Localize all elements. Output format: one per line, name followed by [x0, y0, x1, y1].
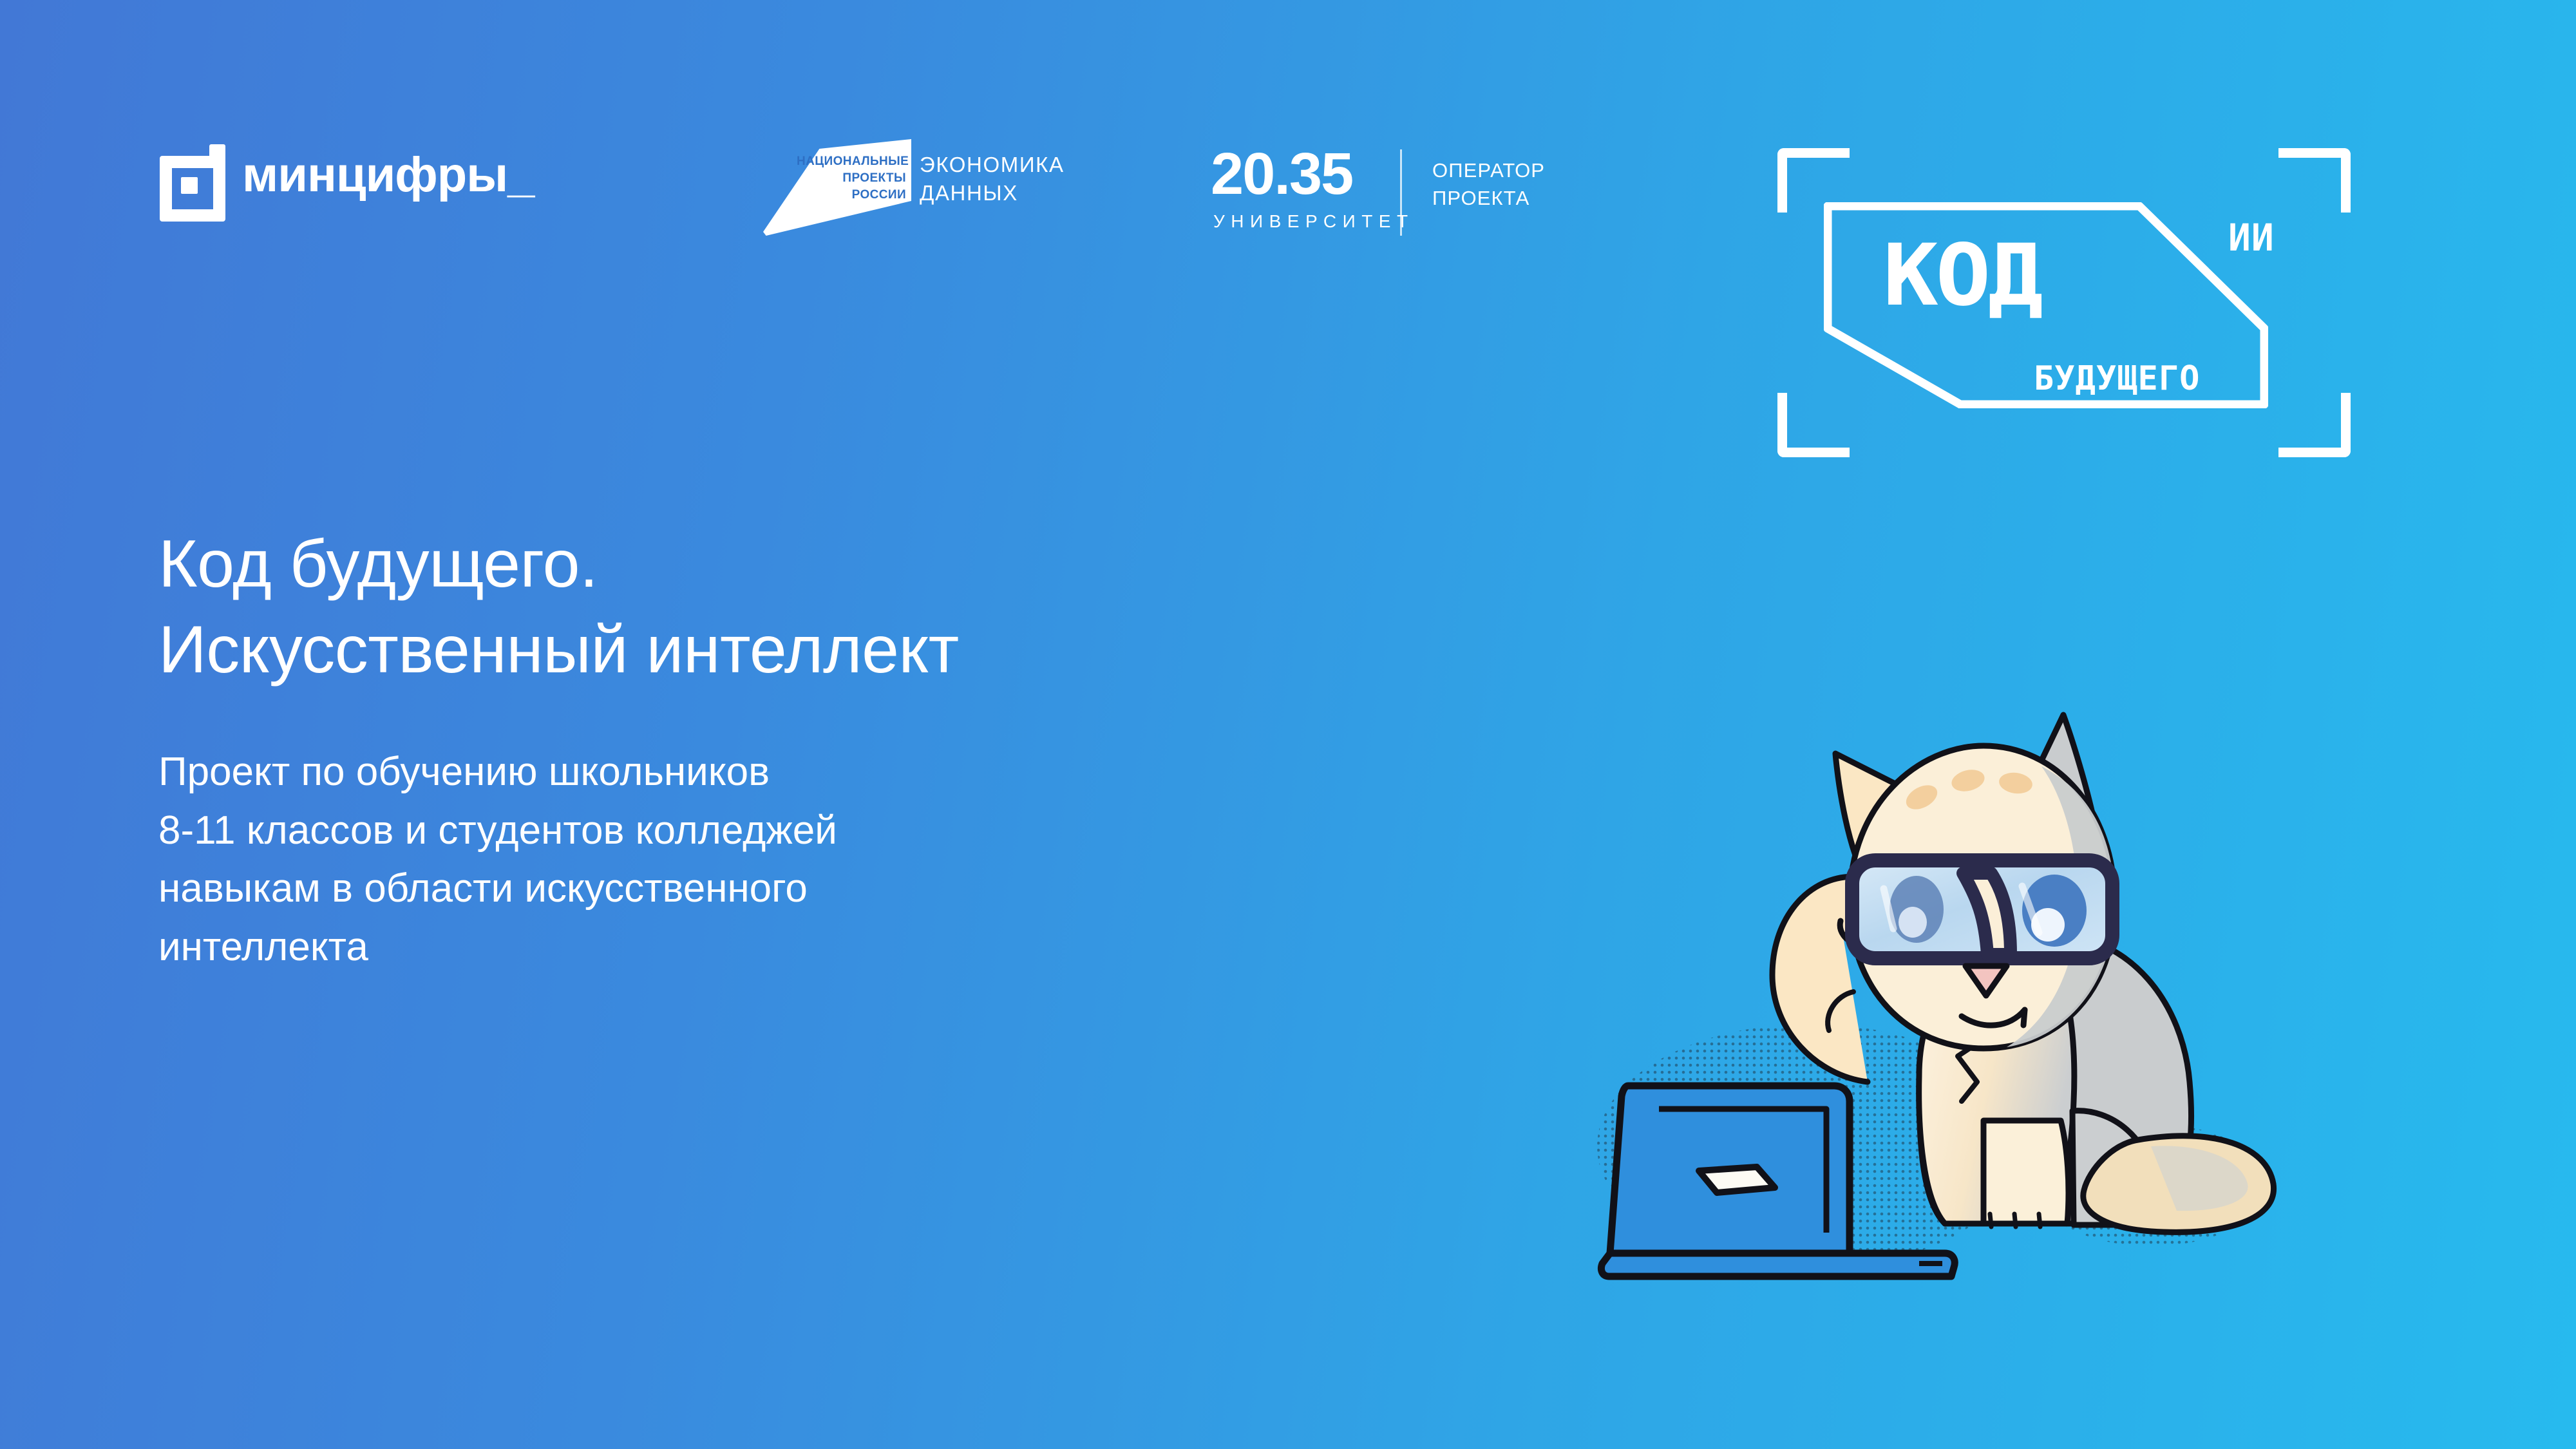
hero-copy-block: Код будущего. Искусственный интеллект Пр…	[158, 522, 1446, 976]
flag-line-3: РОССИИ	[797, 187, 906, 204]
flag-line-2: ПРОЕКТЫ	[797, 170, 906, 187]
poster-canvas: минцифры_ НАЦИОНАЛЬНЫЕ ПРОЕКТЫ РОССИИ ЭК…	[0, 0, 2576, 1449]
role-line-1: ОПЕРАТОР	[1432, 157, 1545, 185]
icon-corner-square	[209, 144, 225, 160]
budushchego-word: БУДУЩЕГО	[2034, 362, 2200, 395]
role-line-2: ПРОЕКТА	[1432, 185, 1545, 213]
econ-line-2: ДАННЫХ	[920, 179, 1065, 207]
project-operator-label: ОПЕРАТОР ПРОЕКТА	[1432, 157, 1545, 213]
body-line-2: 8-11 классов и студентов колледжей	[158, 802, 1446, 860]
econ-line-1: ЭКОНОМИКА	[920, 151, 1065, 179]
headline-line-1: Код будущего.	[158, 522, 1446, 607]
page-title: Код будущего. Искусственный интеллект	[158, 522, 1446, 693]
university-2035-logo: 20.35 УНИВЕРСИТЕТ ОПЕРАТОР ПРОЕКТА	[1211, 144, 1623, 247]
national-projects-logo: НАЦИОНАЛЬНЫЕ ПРОЕКТЫ РОССИИ ЭКОНОМИКА ДА…	[763, 139, 1098, 236]
body-line-1: Проект по обучению школьников	[158, 743, 1446, 802]
university-number: 20.35	[1211, 144, 1352, 204]
partner-logo-bar: минцифры_ НАЦИОНАЛЬНЫЕ ПРОЕКТЫ РОССИИ ЭК…	[0, 0, 2576, 335]
corner-bracket-bottom-right-icon	[2278, 393, 2351, 457]
kod-word: КОД	[1883, 233, 2041, 318]
mincifry-logo: минцифры_	[160, 137, 623, 227]
university-subtitle: УНИВЕРСИТЕТ	[1213, 213, 1414, 231]
icon-center-square	[181, 177, 198, 194]
goggles-icon	[1852, 860, 2112, 958]
mincifry-wordmark: минцифры_	[242, 151, 534, 200]
headline-line-2: Искусственный интеллект	[158, 607, 1446, 693]
cat-tail	[2083, 1136, 2274, 1233]
hero-description: Проект по обучению школьников 8-11 класс…	[158, 743, 1446, 976]
cat-illustration	[1533, 631, 2357, 1327]
national-projects-flag-icon: НАЦИОНАЛЬНЫЕ ПРОЕКТЫ РОССИИ	[763, 139, 911, 236]
body-line-4: интеллекта	[158, 918, 1446, 977]
flag-line-1: НАЦИОНАЛЬНЫЕ	[797, 153, 906, 170]
flag-text: НАЦИОНАЛЬНЫЕ ПРОЕКТЫ РОССИИ	[797, 153, 906, 204]
mincifry-square-icon	[160, 156, 219, 215]
kod-budushchego-logo: КОД БУДУЩЕГО ИИ	[1777, 148, 2351, 457]
vertical-divider	[1400, 149, 1402, 236]
economy-of-data-title: ЭКОНОМИКА ДАННЫХ	[920, 151, 1065, 207]
body-line-3: навыкам в области искусственного	[158, 860, 1446, 918]
corner-bracket-top-right-icon	[2278, 148, 2351, 213]
ii-badge: ИИ	[2228, 219, 2275, 256]
